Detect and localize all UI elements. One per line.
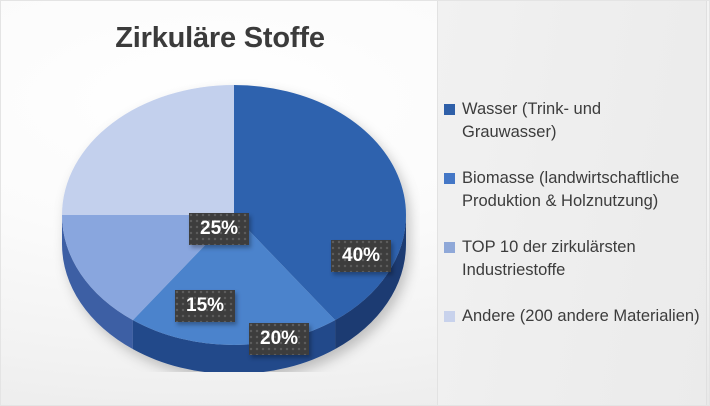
legend-item-top10[interactable]: TOP 10 der zirkulärsten Industriestoffe xyxy=(444,236,706,283)
data-label-top10: 15% xyxy=(175,290,235,322)
data-label-biomasse: 20% xyxy=(249,323,309,355)
data-label-wasser: 40% xyxy=(331,240,391,272)
legend-swatch-icon xyxy=(444,104,455,115)
legend-item-label: TOP 10 der zirkulärsten Industriestoffe xyxy=(462,236,700,283)
chart-legend: Wasser (Trink- und Grauwasser) Biomasse … xyxy=(437,0,707,406)
data-label-andere: 25% xyxy=(189,213,249,245)
legend-item-andere[interactable]: Andere (200 andere Materialien) xyxy=(444,305,706,328)
pie-slice-andere[interactable] xyxy=(62,85,234,215)
slide-canvas: Zirkuläre Stoffe 40% 20% 15% 25% xyxy=(0,0,710,406)
legend-item-label: Andere (200 andere Materialien) xyxy=(462,305,700,328)
legend-item-label: Biomasse (landwirtschaftliche Produktion… xyxy=(462,167,700,214)
legend-item-label: Wasser (Trink- und Grauwasser) xyxy=(462,98,700,145)
legend-swatch-icon xyxy=(444,242,455,253)
legend-item-wasser[interactable]: Wasser (Trink- und Grauwasser) xyxy=(444,98,706,145)
legend-item-biomasse[interactable]: Biomasse (landwirtschaftliche Produktion… xyxy=(444,167,706,214)
legend-swatch-icon xyxy=(444,311,455,322)
legend-swatch-icon xyxy=(444,173,455,184)
pie-chart: 40% 20% 15% 25% xyxy=(48,72,420,372)
page-title: Zirkuläre Stoffe xyxy=(0,22,440,55)
legend-item-list: Wasser (Trink- und Grauwasser) Biomasse … xyxy=(444,98,706,350)
